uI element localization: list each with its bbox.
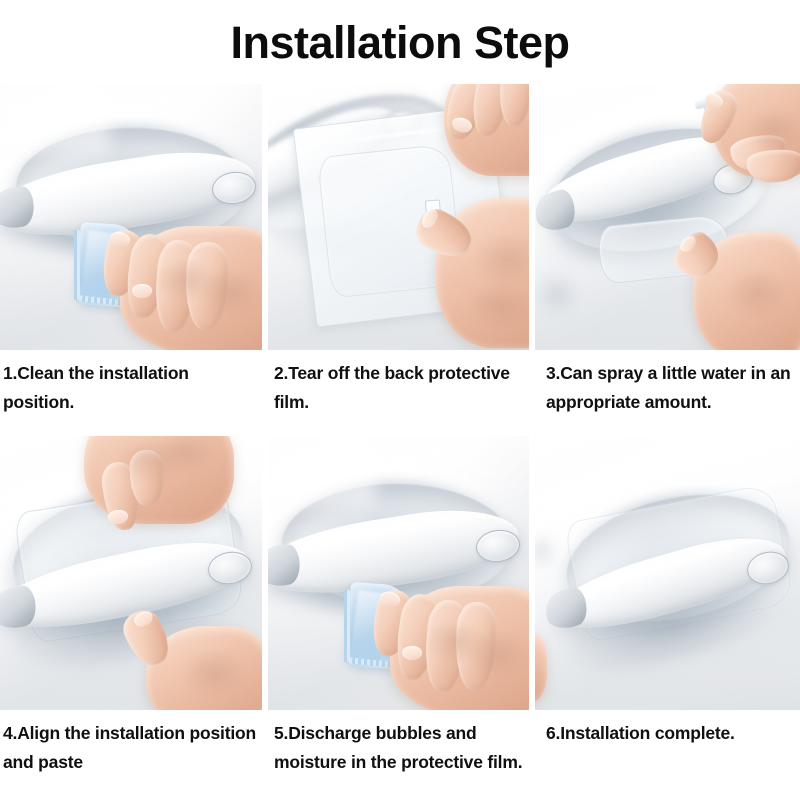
step-caption-6: 6.Installation complete.	[535, 710, 800, 748]
page-title: Installation Step	[230, 20, 569, 65]
step-caption-4: 4.Align the installation position and pa…	[0, 710, 262, 777]
steps-row-bottom: 4.Align the installation position and pa…	[0, 436, 800, 800]
step-card-5: 5.Discharge bubbles and moisture in the …	[268, 436, 529, 800]
step-caption-3: 3.Can spray a little water in an appropr…	[535, 350, 800, 417]
step-photo-2	[268, 84, 529, 350]
step-card-6: 6.Installation complete.	[535, 436, 800, 800]
step-caption-1: 1.Clean the installation position.	[0, 350, 262, 417]
step-card-4: 4.Align the installation position and pa…	[0, 436, 262, 800]
step-photo-1	[0, 84, 262, 350]
step-card-1: 1.Clean the installation position.	[0, 84, 262, 436]
step-caption-5: 5.Discharge bubbles and moisture in the …	[268, 710, 529, 777]
step-photo-4	[0, 436, 262, 710]
title-bar: Installation Step	[0, 0, 800, 84]
step-card-2: 2.Tear off the back protective film.	[268, 84, 529, 436]
step-photo-3	[535, 84, 800, 350]
step-photo-5	[268, 436, 529, 710]
step-photo-6	[535, 436, 800, 710]
steps-row-top: 1.Clean the installation position.	[0, 84, 800, 436]
step-card-3: 3.Can spray a little water in an appropr…	[535, 84, 800, 436]
step-caption-2: 2.Tear off the back protective film.	[268, 350, 529, 417]
